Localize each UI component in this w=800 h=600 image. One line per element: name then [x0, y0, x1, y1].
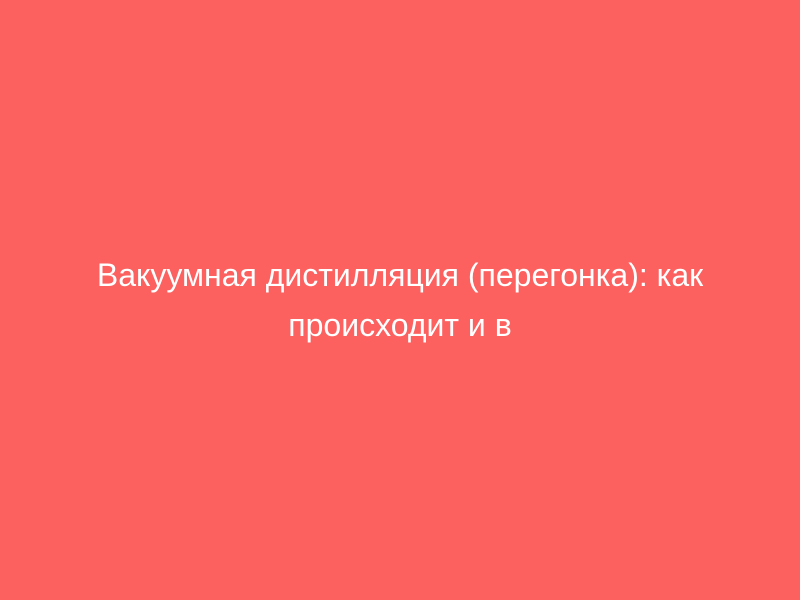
preview-card: Вакуумная дистилляция (перегонка): как п…	[0, 0, 800, 600]
title-block: Вакуумная дистилляция (перегонка): как п…	[80, 250, 720, 350]
card-title-line-1: Вакуумная дистилляция (перегонка): как	[80, 250, 720, 300]
card-title: Вакуумная дистилляция (перегонка): как п…	[80, 250, 720, 350]
card-title-line-2: происходит и в	[80, 300, 720, 350]
